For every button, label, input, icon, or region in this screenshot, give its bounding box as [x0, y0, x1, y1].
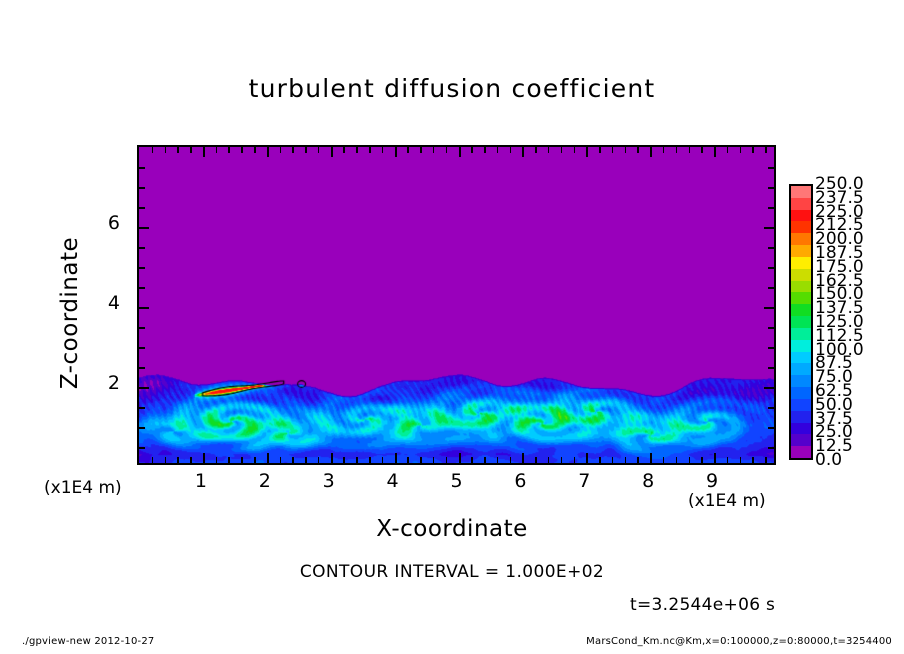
axis-tick-mark — [177, 457, 179, 463]
colorbar-band-0 — [791, 446, 811, 458]
x-tick-label-3: 3 — [309, 470, 349, 492]
axis-tick-mark — [535, 147, 537, 153]
axis-tick-mark — [676, 147, 678, 153]
axis-tick-mark — [318, 147, 320, 153]
axis-tick-mark — [497, 457, 499, 463]
y-axis-unit-label: (x1E4 m) — [44, 478, 122, 498]
axis-tick-mark — [637, 457, 639, 463]
axis-tick-mark — [561, 147, 563, 153]
axis-tick-mark — [768, 287, 774, 289]
axis-tick-mark — [752, 457, 754, 463]
axis-tick-mark — [768, 347, 774, 349]
axis-tick-mark — [165, 457, 167, 463]
colorbar — [789, 184, 813, 460]
colorbar-tick-labels: 0.012.525.037.550.062.575.087.5100.0112.… — [815, 177, 895, 467]
axis-tick-mark — [139, 407, 145, 409]
x-tick-label-6: 6 — [500, 470, 540, 492]
axis-tick-mark — [407, 147, 409, 153]
axis-tick-mark — [139, 267, 145, 269]
colorbar-band-20 — [791, 210, 811, 222]
axis-tick-mark — [203, 453, 205, 463]
colorbar-band-8 — [791, 352, 811, 364]
axis-tick-mark — [395, 147, 397, 157]
footer-command-label: ./gpview-new 2012-10-27 — [22, 636, 154, 647]
axis-tick-mark — [356, 457, 358, 463]
axis-tick-mark — [216, 147, 218, 153]
colorbar-band-12 — [791, 304, 811, 316]
axis-tick-mark — [305, 457, 307, 463]
axis-tick-mark — [764, 387, 774, 389]
axis-tick-mark — [280, 457, 282, 463]
axis-tick-mark — [764, 227, 774, 229]
axis-tick-mark — [768, 367, 774, 369]
axis-tick-mark — [459, 147, 461, 157]
axis-tick-mark — [139, 207, 145, 209]
axis-tick-mark — [727, 147, 729, 153]
axis-tick-mark — [768, 187, 774, 189]
axis-tick-mark — [768, 327, 774, 329]
axis-tick-mark — [752, 147, 754, 153]
colorbar-band-4 — [791, 399, 811, 411]
axis-tick-mark — [768, 167, 774, 169]
axis-tick-mark — [139, 347, 145, 349]
axis-tick-mark — [139, 387, 149, 389]
axis-tick-mark — [369, 147, 371, 153]
axis-tick-mark — [177, 147, 179, 153]
axis-tick-mark — [510, 147, 512, 153]
page-title: turbulent diffusion coefficient — [0, 74, 904, 103]
axis-tick-mark — [561, 457, 563, 463]
colorbar-band-9 — [791, 340, 811, 352]
axis-tick-mark — [768, 247, 774, 249]
colorbar-band-15 — [791, 269, 811, 281]
axis-tick-mark — [446, 457, 448, 463]
axis-tick-mark — [459, 453, 461, 463]
axis-tick-mark — [471, 147, 473, 153]
axis-tick-mark — [701, 457, 703, 463]
axis-tick-mark — [548, 457, 550, 463]
axis-tick-mark — [139, 247, 145, 249]
axis-tick-mark — [305, 147, 307, 153]
colorbar-band-5 — [791, 387, 811, 399]
axis-tick-mark — [216, 457, 218, 463]
x-tick-label-7: 7 — [564, 470, 604, 492]
axis-tick-mark — [356, 147, 358, 153]
axis-tick-mark — [586, 147, 588, 157]
axis-tick-mark — [139, 167, 145, 169]
axis-tick-mark — [318, 457, 320, 463]
axis-tick-mark — [382, 457, 384, 463]
axis-tick-mark — [228, 147, 230, 153]
axis-tick-mark — [395, 453, 397, 463]
colorbar-band-6 — [791, 375, 811, 387]
axis-tick-mark — [740, 457, 742, 463]
x-axis-unit-label: (x1E4 m) — [688, 491, 766, 511]
colorbar-band-19 — [791, 221, 811, 233]
y-tick-label-2: 2 — [96, 372, 120, 394]
axis-tick-mark — [574, 147, 576, 153]
colorbar-band-22 — [791, 186, 811, 198]
x-tick-label-1: 1 — [181, 470, 221, 492]
axis-tick-mark — [369, 457, 371, 463]
axis-tick-mark — [768, 427, 774, 429]
axis-tick-mark — [433, 457, 435, 463]
axis-tick-mark — [548, 147, 550, 153]
axis-tick-mark — [139, 427, 145, 429]
colorbar-band-13 — [791, 292, 811, 304]
axis-tick-mark — [676, 457, 678, 463]
axis-tick-mark — [420, 147, 422, 153]
y-axis-title: Z-coordinate — [57, 183, 83, 443]
axis-tick-mark — [586, 453, 588, 463]
axis-tick-mark — [701, 147, 703, 153]
x-tick-label-9: 9 — [692, 470, 732, 492]
axis-tick-mark — [267, 453, 269, 463]
axis-tick-mark — [768, 447, 774, 449]
axis-tick-mark — [625, 147, 627, 153]
axis-tick-mark — [497, 147, 499, 153]
axis-tick-mark — [740, 147, 742, 153]
x-tick-label-8: 8 — [628, 470, 668, 492]
axis-tick-mark — [768, 207, 774, 209]
axis-tick-mark — [535, 457, 537, 463]
colorbar-band-2 — [791, 423, 811, 435]
axis-tick-mark — [382, 147, 384, 153]
axis-tick-mark — [292, 147, 294, 153]
time-stamp-label: t=3.2544e+06 s — [630, 595, 775, 615]
x-axis-title: X-coordinate — [0, 516, 904, 542]
axis-tick-mark — [714, 453, 716, 463]
axis-tick-mark — [228, 457, 230, 463]
axis-tick-mark — [241, 147, 243, 153]
axis-tick-mark — [343, 457, 345, 463]
axis-tick-mark — [650, 453, 652, 463]
contour-plot-area — [137, 145, 776, 465]
axis-tick-mark — [152, 147, 154, 153]
contour-interval-label: CONTOUR INTERVAL = 1.000E+02 — [0, 562, 904, 582]
axis-tick-mark — [599, 147, 601, 153]
x-tick-label-4: 4 — [373, 470, 413, 492]
axis-tick-mark — [203, 147, 205, 157]
axis-tick-mark — [574, 457, 576, 463]
axis-tick-mark — [637, 147, 639, 153]
axis-tick-mark — [599, 457, 601, 463]
axis-tick-mark — [522, 453, 524, 463]
axis-tick-mark — [765, 457, 767, 463]
axis-tick-mark — [768, 407, 774, 409]
axis-tick-mark — [190, 147, 192, 153]
colorbar-band-17 — [791, 245, 811, 257]
axis-tick-mark — [190, 457, 192, 463]
axis-tick-mark — [292, 457, 294, 463]
colorbar-band-1 — [791, 434, 811, 446]
axis-tick-mark — [484, 147, 486, 153]
turbulent-diffusion-field — [139, 147, 774, 463]
colorbar-band-16 — [791, 257, 811, 269]
axis-tick-mark — [152, 457, 154, 463]
axis-tick-mark — [714, 147, 716, 157]
axis-tick-mark — [625, 457, 627, 463]
axis-tick-mark — [139, 187, 145, 189]
axis-tick-mark — [331, 147, 333, 157]
colorbar-band-18 — [791, 233, 811, 245]
x-tick-label-5: 5 — [437, 470, 477, 492]
axis-tick-mark — [139, 307, 149, 309]
colorbar-band-11 — [791, 316, 811, 328]
colorbar-band-21 — [791, 198, 811, 210]
y-tick-label-6: 6 — [96, 212, 120, 234]
footer-dataset-label: MarsCond_Km.nc@Km,x=0:100000,z=0:80000,t… — [586, 636, 892, 647]
axis-tick-mark — [522, 147, 524, 157]
colorbar-tick-250.0: 250.0 — [815, 176, 864, 193]
axis-tick-mark — [407, 457, 409, 463]
axis-tick-mark — [254, 457, 256, 463]
axis-tick-mark — [420, 457, 422, 463]
axis-tick-mark — [663, 457, 665, 463]
axis-tick-mark — [254, 147, 256, 153]
axis-tick-mark — [241, 457, 243, 463]
colorbar-band-10 — [791, 328, 811, 340]
axis-tick-mark — [765, 147, 767, 153]
colorbar-band-3 — [791, 411, 811, 423]
axis-tick-mark — [446, 147, 448, 153]
axis-tick-mark — [267, 147, 269, 157]
axis-tick-mark — [650, 147, 652, 157]
axis-tick-mark — [139, 227, 149, 229]
x-tick-label-2: 2 — [245, 470, 285, 492]
axis-tick-mark — [139, 367, 145, 369]
axis-tick-mark — [471, 457, 473, 463]
axis-tick-mark — [343, 147, 345, 153]
axis-tick-mark — [280, 147, 282, 153]
axis-tick-mark — [689, 457, 691, 463]
axis-tick-mark — [139, 447, 145, 449]
axis-tick-mark — [139, 327, 145, 329]
axis-tick-mark — [612, 457, 614, 463]
axis-tick-mark — [331, 453, 333, 463]
axis-tick-mark — [433, 147, 435, 153]
axis-tick-mark — [139, 287, 145, 289]
axis-tick-mark — [727, 457, 729, 463]
axis-tick-mark — [165, 147, 167, 153]
axis-tick-mark — [764, 307, 774, 309]
colorbar-band-7 — [791, 363, 811, 375]
axis-tick-mark — [768, 267, 774, 269]
colorbar-band-14 — [791, 281, 811, 293]
y-tick-label-4: 4 — [96, 292, 120, 314]
axis-tick-mark — [484, 457, 486, 463]
axis-tick-mark — [663, 147, 665, 153]
axis-tick-mark — [689, 147, 691, 153]
axis-tick-mark — [612, 147, 614, 153]
axis-tick-mark — [510, 457, 512, 463]
